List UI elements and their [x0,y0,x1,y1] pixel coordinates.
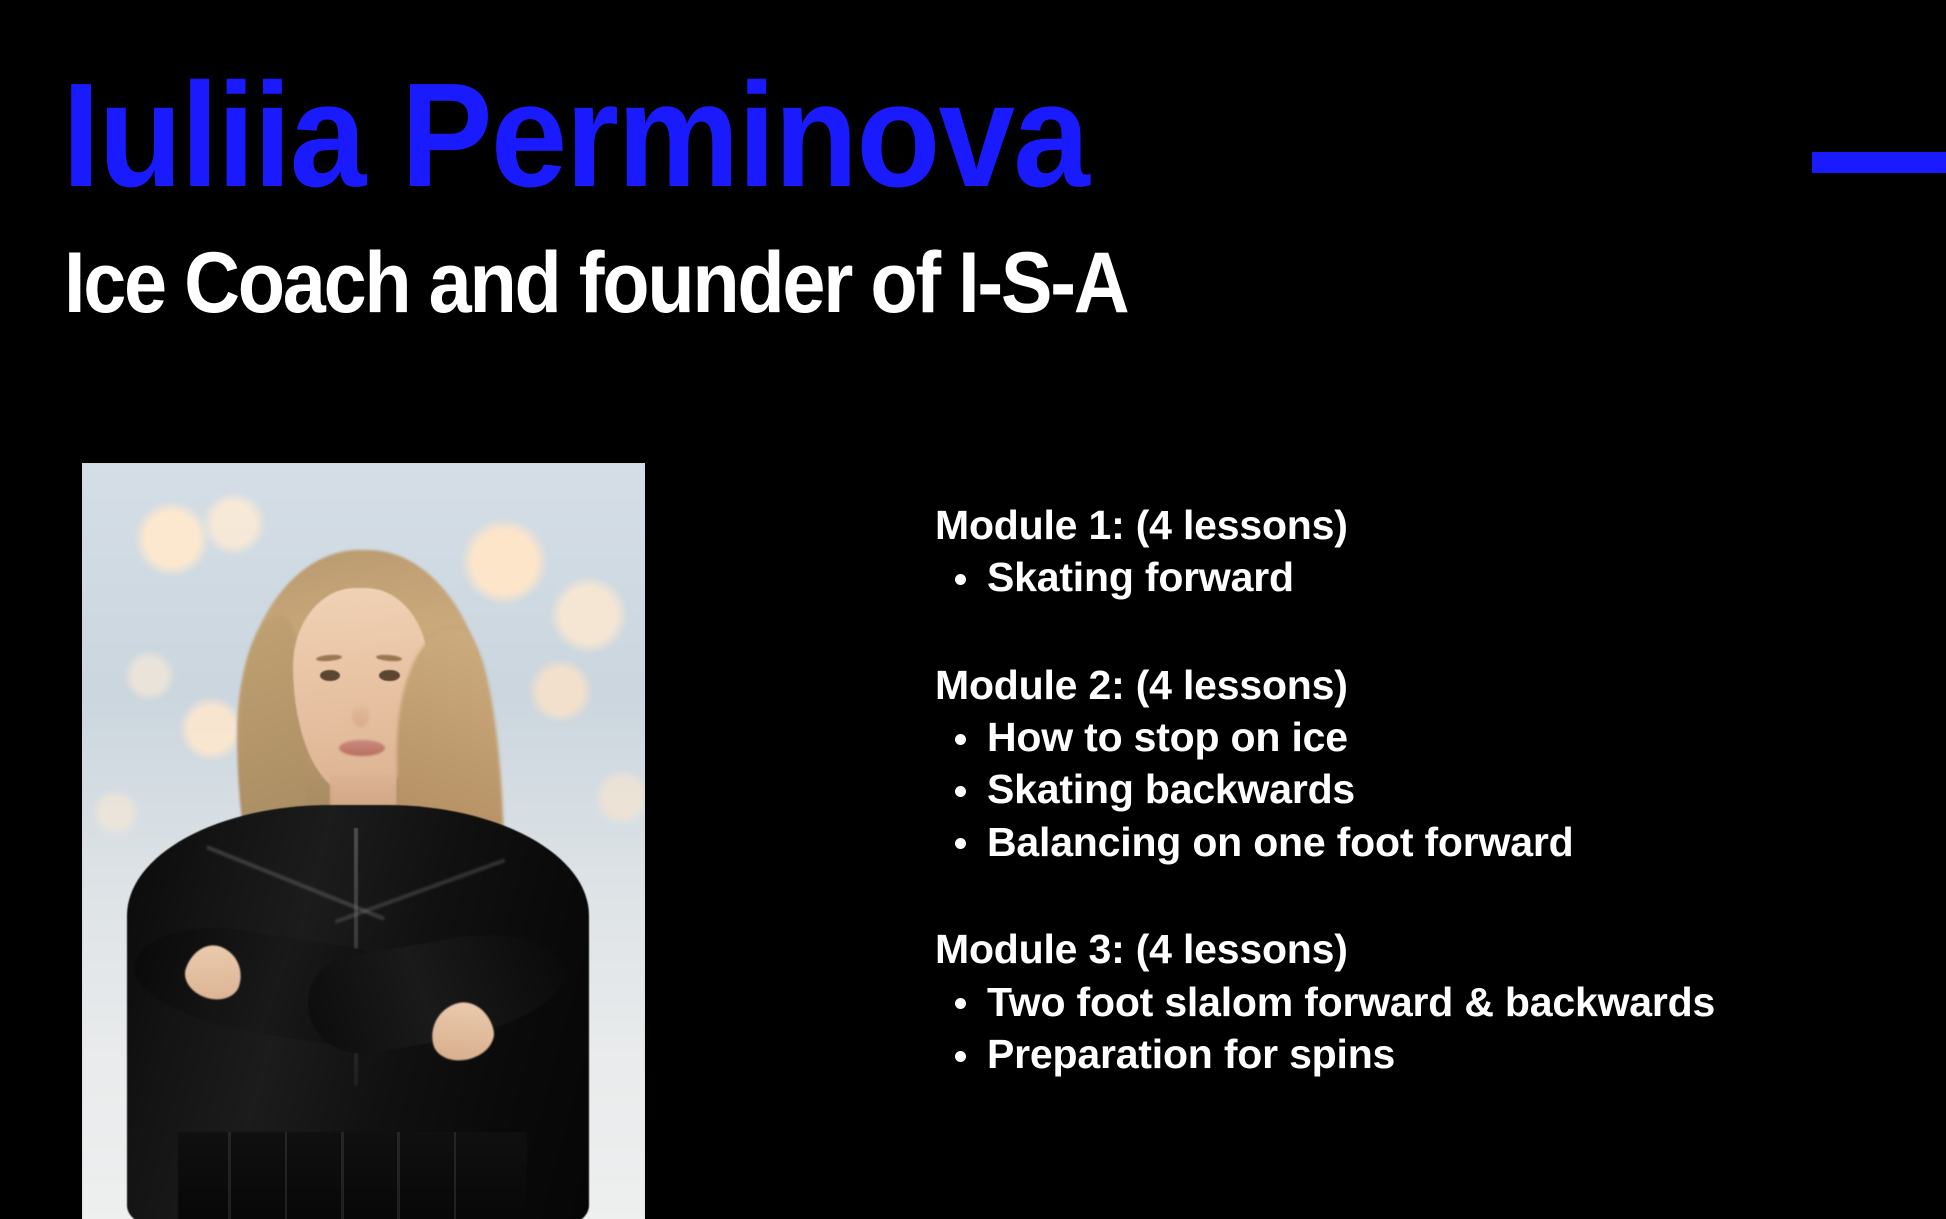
module-block: Module 3: (4 lessons)Two foot slalom for… [935,924,1945,1080]
bullet-dot-icon [955,734,966,745]
skirt-pleat-shape [454,1132,457,1219]
module-block: Module 2: (4 lessons)How to stop on iceS… [935,660,1945,869]
lesson-label: How to stop on ice [987,714,1348,760]
curriculum-list: Module 1: (4 lessons)Skating forwardModu… [935,500,1945,1081]
lesson-item: Skating backwards [935,763,1945,815]
skirt-pleat-shape [341,1132,344,1219]
bullet-dot-icon [955,998,966,1009]
lesson-item: Preparation for spins [935,1028,1945,1080]
module-block: Module 1: (4 lessons)Skating forward [935,500,1945,604]
bullet-dot-icon [955,1051,966,1062]
module-heading: Module 3: (4 lessons) [935,924,1945,975]
lesson-list: Skating forward [935,551,1945,603]
lips-shape [339,740,385,757]
portrait-photo [82,463,645,1219]
lesson-label: Preparation for spins [987,1031,1395,1077]
lesson-label: Balancing on one foot forward [987,819,1573,865]
lesson-list: Two foot slalom forward & backwardsPrepa… [935,976,1945,1081]
lesson-label: Skating backwards [987,766,1355,812]
lesson-label: Skating forward [987,554,1294,600]
skirt-pleat-shape [228,1132,231,1219]
page-subtitle: Ice Coach and founder of I-S-A [64,240,1127,326]
eye-right-shape [379,670,399,681]
module-heading: Module 2: (4 lessons) [935,660,1945,711]
module-heading: Module 1: (4 lessons) [935,500,1945,551]
lesson-list: How to stop on iceSkating backwardsBalan… [935,711,1945,868]
bullet-dot-icon [955,838,966,849]
eye-left-shape [320,670,340,681]
lesson-label: Two foot slalom forward & backwards [987,979,1715,1025]
lesson-item: Two foot slalom forward & backwards [935,976,1945,1028]
lesson-item: Skating forward [935,551,1945,603]
lesson-item: Balancing on one foot forward [935,816,1945,868]
page-title: Iuliia Perminova [62,62,1088,210]
skirt-pleat-shape [285,1132,288,1219]
bullet-dot-icon [955,574,966,585]
accent-dash-decoration [1812,152,1946,173]
portrait-subject [82,463,645,1219]
skirt-pleat-shape [397,1132,400,1219]
nose-shape [352,702,369,726]
bullet-dot-icon [955,786,966,797]
lesson-item: How to stop on ice [935,711,1945,763]
slide-canvas: Iuliia Perminova Ice Coach and founder o… [0,0,1946,1219]
